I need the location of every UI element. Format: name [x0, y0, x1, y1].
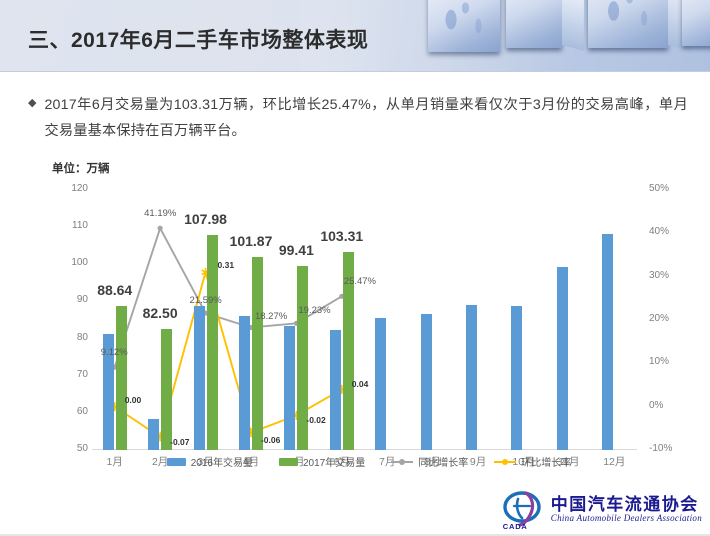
bullet-block: ◆ 2017年6月交易量为103.31万辆，环比增长25.47%，从单月销量来看… — [28, 92, 688, 144]
y-axis-right-tick: 30% — [649, 270, 695, 281]
bar-2017-3月 — [207, 235, 218, 450]
bar-value-label-3月: 107.98 — [170, 211, 242, 227]
legend-label: 2017年交易量 — [303, 454, 365, 469]
marker-同比增长率 — [158, 226, 163, 231]
legend-label: 2016年交易量 — [191, 454, 253, 469]
bar-2016-6月 — [330, 330, 341, 450]
legend-swatch-icon — [279, 458, 298, 466]
legend-label: 同比增长率 — [418, 454, 468, 469]
bar-value-label-5月: 99.41 — [260, 242, 332, 258]
slide-header: 三、2017年6月二手车市场整体表现 — [0, 0, 710, 72]
bar-value-label-1月: 88.64 — [79, 282, 151, 298]
legend-line-icon — [391, 458, 413, 466]
y-axis-left-tick: 100 — [46, 257, 88, 268]
bar-2016-9月 — [466, 305, 477, 450]
header-divider — [0, 71, 710, 72]
bar-2016-10月 — [511, 306, 522, 450]
bar-2016-11月 — [557, 267, 568, 450]
combo-chart: 5060708090100110120-10%0%10%20%30%40%50%… — [44, 182, 694, 477]
bar-value-label-6月: 103.31 — [306, 228, 378, 244]
legend-label: 环比增长率 — [521, 454, 571, 469]
bar-2016-8月 — [421, 314, 432, 450]
page-title: 三、2017年6月二手车市场整体表现 — [28, 24, 368, 54]
line-label-环比增长率-6月: 0.04 — [352, 379, 369, 389]
bar-value-label-2月: 82.50 — [124, 305, 196, 321]
logo-english-name: China Automobile Dealers Association — [551, 514, 702, 523]
cada-emblem-icon: CADA — [502, 490, 546, 530]
y-axis-right-tick: 50% — [649, 183, 695, 194]
legend-item-1[interactable]: 2016年交易量 — [167, 454, 253, 469]
legend-item-2[interactable]: 2017年交易量 — [279, 454, 365, 469]
y-axis-right-tick: -10% — [649, 443, 695, 454]
logo-chinese-name: 中国汽车流通协会 — [551, 496, 702, 514]
chart-unit-label: 单位：万辆 — [52, 160, 110, 176]
slide: 三、2017年6月二手车市场整体表现 ◆ 2017年6月交易量为103.31万辆… — [0, 0, 710, 536]
line-label-同比增长率-2月: 41.19% — [144, 208, 176, 219]
chart-plot-area: 5060708090100110120-10%0%10%20%30%40%50%… — [92, 190, 637, 450]
chart-legend: 2016年交易量2017年交易量同比增长率环比增长率 — [44, 454, 694, 469]
bullet-diamond-icon: ◆ — [28, 92, 36, 114]
line-label-同比增长率-6月: 25.47% — [344, 276, 376, 287]
bar-2016-7月 — [375, 318, 386, 450]
legend-swatch-icon — [167, 458, 186, 466]
bar-2016-4月 — [239, 316, 250, 450]
y-axis-right-tick: 10% — [649, 356, 695, 367]
y-axis-left-tick: 70 — [46, 369, 88, 380]
y-axis-right-tick: 40% — [649, 226, 695, 237]
line-label-同比增长率-3月: 21.59% — [190, 295, 222, 306]
line-label-环比增长率-5月: -0.02 — [306, 415, 325, 425]
line-label-同比增长率-1月: 9.12% — [101, 347, 128, 358]
y-axis-right-tick: 20% — [649, 313, 695, 324]
summary-paragraph: 2017年6月交易量为103.31万辆，环比增长25.47%，从单月销量来看仅次… — [44, 92, 688, 144]
line-label-环比增长率-4月: -0.06 — [261, 435, 280, 445]
y-axis-left-tick: 60 — [46, 406, 88, 417]
y-axis-right-tick: 0% — [649, 400, 695, 411]
bar-2017-4月 — [252, 257, 263, 450]
line-label-环比增长率-3月: 0.31 — [218, 260, 235, 270]
line-label-环比增长率-2月: -0.07 — [170, 437, 189, 447]
y-axis-left-tick: 50 — [46, 443, 88, 454]
bar-2017-1月 — [116, 306, 127, 450]
legend-line-icon — [494, 458, 516, 466]
y-axis-left-tick: 120 — [46, 183, 88, 194]
legend-item-4[interactable]: 环比增长率 — [494, 454, 571, 469]
bar-2016-12月 — [602, 234, 613, 450]
legend-item-3[interactable]: 同比增长率 — [391, 454, 468, 469]
line-label-同比增长率-4月: 18.27% — [255, 311, 287, 322]
line-label-同比增长率-5月: 19.23% — [298, 305, 330, 316]
logo-acronym: CADA — [503, 522, 528, 531]
bar-2016-3月 — [194, 306, 205, 450]
bar-2017-2月 — [161, 329, 172, 450]
bar-2016-5月 — [284, 326, 295, 450]
y-axis-left-tick: 80 — [46, 332, 88, 343]
bar-2016-2月 — [148, 419, 159, 450]
line-label-环比增长率-1月: 0.00 — [125, 395, 142, 405]
y-axis-left-tick: 110 — [46, 220, 88, 231]
association-logo: CADA 中国汽车流通协会 China Automobile Dealers A… — [502, 490, 702, 530]
